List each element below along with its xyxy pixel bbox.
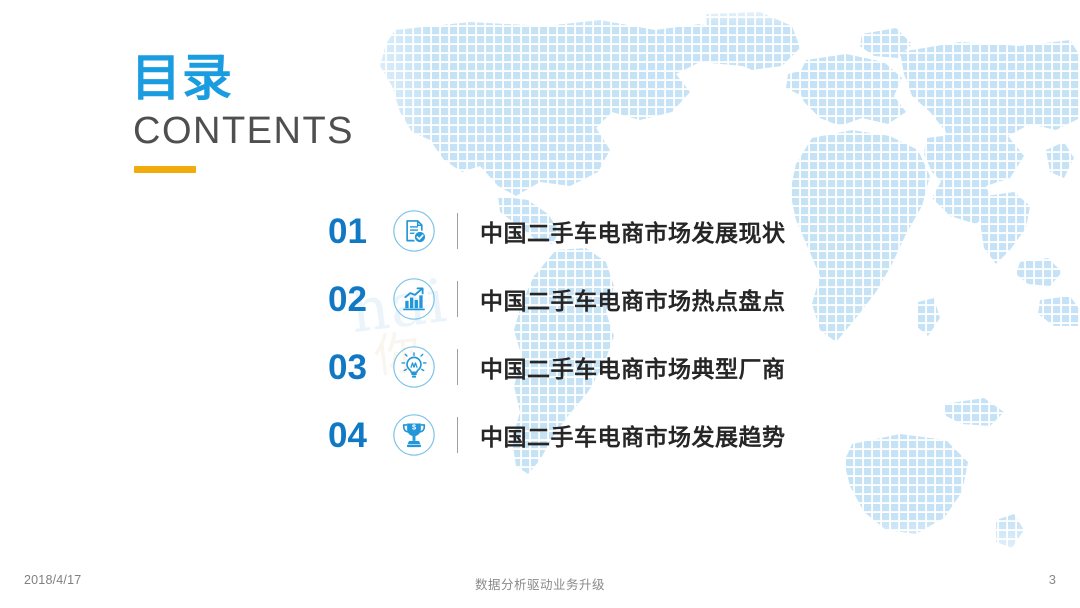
- toc-item-03[interactable]: 03: [328, 333, 968, 401]
- page-title-english: CONTENTS: [133, 111, 531, 153]
- toc-separator: [457, 417, 458, 453]
- bar-chart-growth-icon: [392, 277, 436, 321]
- table-of-contents: 01 中国二手车电商市场发展现状 02: [328, 197, 968, 469]
- slide-root: hai 你 目录 CONTENTS 01: [0, 0, 1080, 608]
- toc-item-04[interactable]: 04 $ 中国二手车电商市场发展趋势: [328, 401, 968, 469]
- toc-item-01[interactable]: 01 中国二手车电商市场发展现状: [328, 197, 968, 265]
- lightbulb-idea-icon: [392, 345, 436, 389]
- toc-number: 04: [328, 418, 388, 453]
- document-check-icon: [392, 209, 436, 253]
- toc-label: 中国二手车电商市场发展趋势: [480, 418, 786, 452]
- toc-label: 中国二手车电商市场发展现状: [480, 214, 786, 248]
- toc-label: 中国二手车电商市场热点盘点: [480, 282, 786, 316]
- toc-separator: [457, 213, 458, 249]
- title-underline-rule: [134, 166, 196, 173]
- toc-label: 中国二手车电商市场典型厂商: [480, 350, 786, 384]
- page-title-chinese: 目录: [131, 52, 531, 105]
- footer-page-number: 3: [1049, 572, 1056, 587]
- toc-separator: [457, 281, 458, 317]
- slide-header: 目录 CONTENTS: [131, 52, 531, 173]
- toc-number: 01: [328, 214, 388, 249]
- toc-number: 02: [328, 282, 388, 317]
- map-bottom-fade: [0, 518, 1080, 608]
- toc-number: 03: [328, 350, 388, 385]
- trophy-icon: $: [392, 413, 436, 457]
- toc-item-02[interactable]: 02 中国二手车电商市场热点盘点: [328, 265, 968, 333]
- footer-center-text: 数据分析驱动业务升级: [0, 574, 1080, 593]
- svg-text:$: $: [412, 423, 416, 432]
- map-top-fade: [0, 0, 1080, 26]
- toc-separator: [457, 349, 458, 385]
